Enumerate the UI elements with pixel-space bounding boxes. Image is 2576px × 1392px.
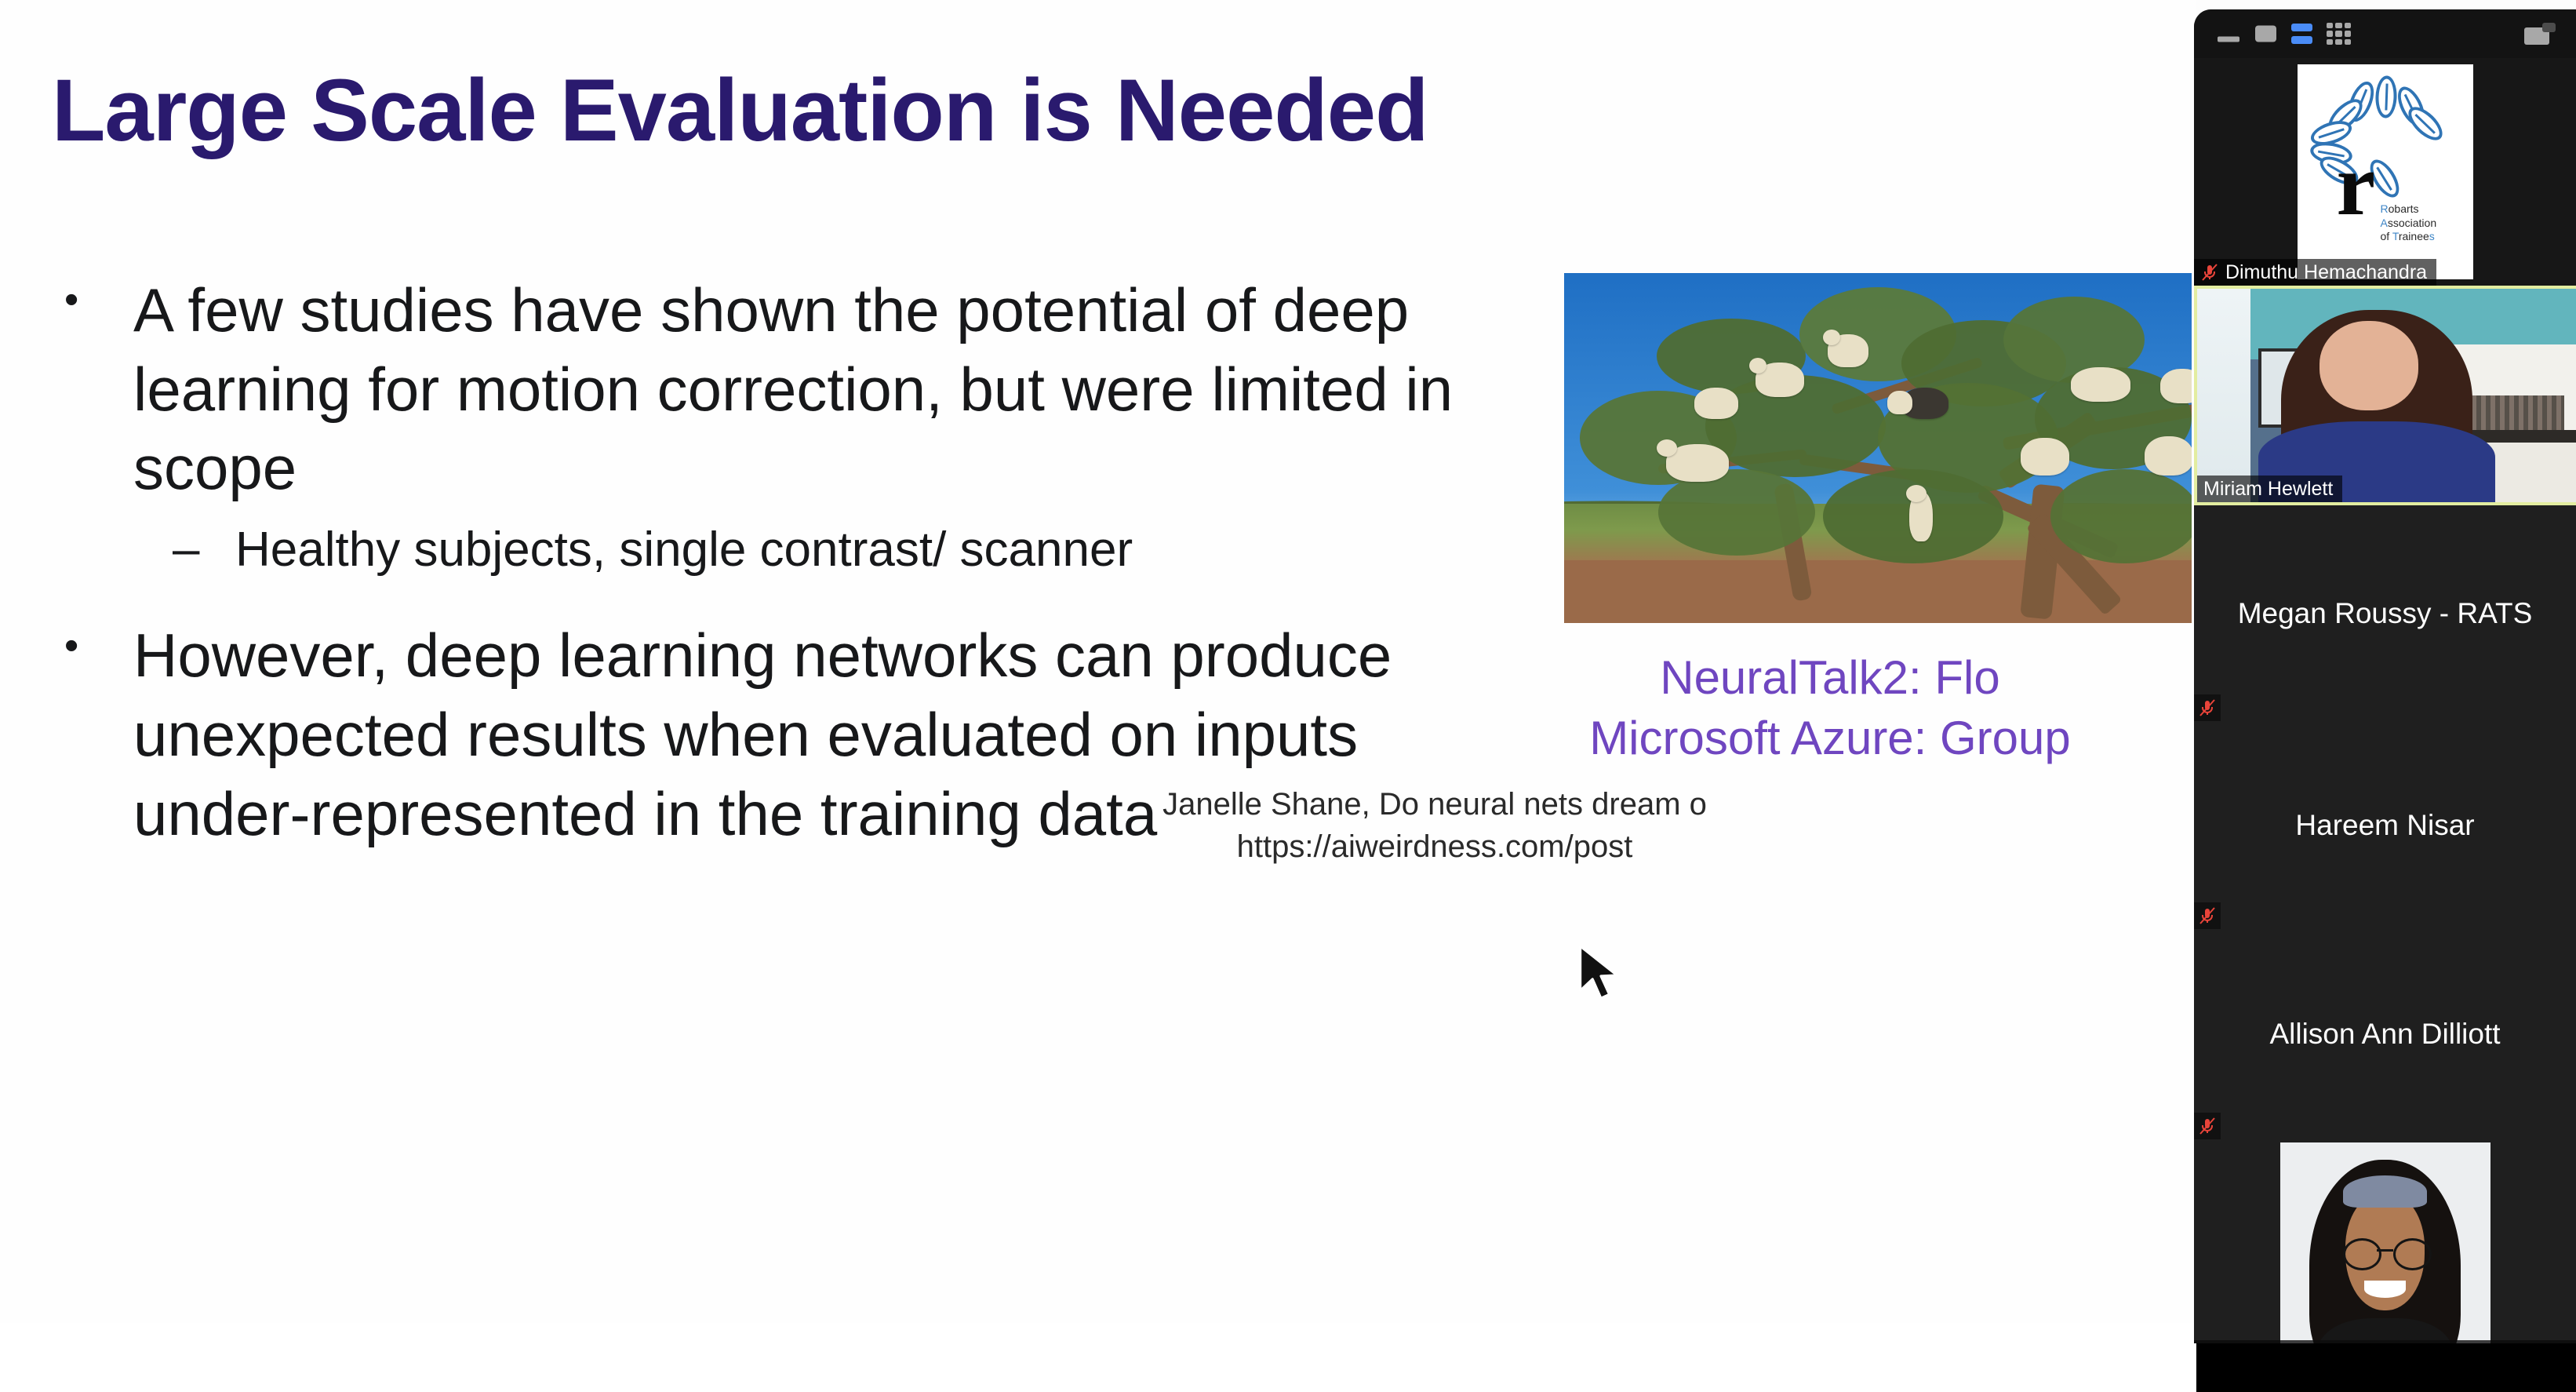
- mic-status: [2194, 1113, 2221, 1139]
- participant-name: Allison Ann Dilliott: [2194, 929, 2576, 1139]
- logo-wordmark: Robarts Association of Trainees: [2381, 202, 2473, 244]
- list-item-text: Healthy subjects, single contrast/ scann…: [235, 523, 1133, 577]
- participant-name: Megan Roussy - RATS: [2194, 505, 2576, 721]
- bullet-marker: •: [64, 625, 78, 666]
- list-item: • A few studies have shown the potential…: [47, 271, 1522, 508]
- caption-line-2: Microsoft Azure: Group: [1465, 709, 2195, 769]
- mic-muted-icon: [2198, 906, 2217, 926]
- speaker-view-icon[interactable]: [2291, 24, 2312, 44]
- participant-name: Hareem Nisar: [2194, 721, 2576, 929]
- participant-tile[interactable]: r Robarts Association of Trainees Dimuth…: [2194, 58, 2576, 286]
- zoom-meeting-window: Large Scale Evaluation is Needed • A few…: [0, 0, 2576, 1392]
- participant-tile-active-speaker[interactable]: Miriam Hewlett: [2194, 286, 2576, 505]
- participant-name: Miriam Hewlett: [2203, 478, 2333, 501]
- participant-name-label: Olivia – RATS & Retreat H…: [2194, 1340, 2576, 1343]
- participant-tile[interactable]: Hareem Nisar: [2194, 721, 2576, 929]
- participant-name: Dimuthu Hemachandra: [2225, 261, 2427, 284]
- bullet-marker: •: [64, 279, 78, 320]
- participant-name-label: Dimuthu Hemachandra: [2194, 259, 2436, 286]
- maximize-icon[interactable]: [2255, 26, 2276, 42]
- participant-tile[interactable]: Allison Ann Dilliott: [2194, 929, 2576, 1139]
- rats-logo: r Robarts Association of Trainees: [2298, 64, 2473, 279]
- figure-caption: NeuralTalk2: Flo Microsoft Azure: Group: [1465, 648, 2195, 769]
- mic-muted-icon: [2198, 1116, 2217, 1136]
- page-title: Large Scale Evaluation is Needed: [52, 64, 2107, 157]
- logo-letter: r: [2337, 151, 2376, 221]
- participant-filmstrip-panel[interactable]: r Robarts Association of Trainees Dimuth…: [2194, 9, 2576, 1343]
- avatar: [2280, 1142, 2490, 1343]
- list-item: – Healthy subjects, single contrast/ sca…: [47, 519, 1522, 582]
- participant-tile[interactable]: Olivia – RATS & Retreat H…: [2194, 1139, 2576, 1343]
- panel-toolbar[interactable]: [2194, 9, 2576, 58]
- goats-in-tree-photo: [1564, 273, 2192, 623]
- attribution-line-1: Janelle Shane, Do neural nets dream o: [678, 783, 2192, 825]
- slide-bullet-list: • A few studies have shown the potential…: [47, 271, 1522, 859]
- gallery-view-icon[interactable]: [2327, 23, 2351, 45]
- participant-tile[interactable]: Megan Roussy - RATS: [2194, 505, 2576, 721]
- shared-screen-slide[interactable]: Large Scale Evaluation is Needed • A few…: [0, 0, 2576, 1323]
- minimize-icon[interactable]: [2218, 37, 2239, 42]
- list-item-text: A few studies have shown the potential o…: [133, 275, 1453, 502]
- attribution-line-2: https://aiweirdness.com/post: [678, 825, 2192, 868]
- caption-line-1: NeuralTalk2: Flo: [1465, 648, 2195, 709]
- mic-status: [2194, 694, 2221, 721]
- picture-in-picture-icon[interactable]: [2524, 23, 2556, 45]
- mic-status: [2194, 902, 2221, 929]
- mic-muted-icon: [2198, 698, 2217, 718]
- bullet-marker: –: [173, 518, 199, 581]
- slide-figure: NeuralTalk2: Flo Microsoft Azure: Group …: [1564, 273, 2196, 1317]
- figure-attribution: Janelle Shane, Do neural nets dream o ht…: [678, 783, 2192, 868]
- participant-name-label: Miriam Hewlett: [2197, 476, 2342, 502]
- mic-muted-icon: [2200, 262, 2219, 282]
- participant-video: [2197, 289, 2576, 502]
